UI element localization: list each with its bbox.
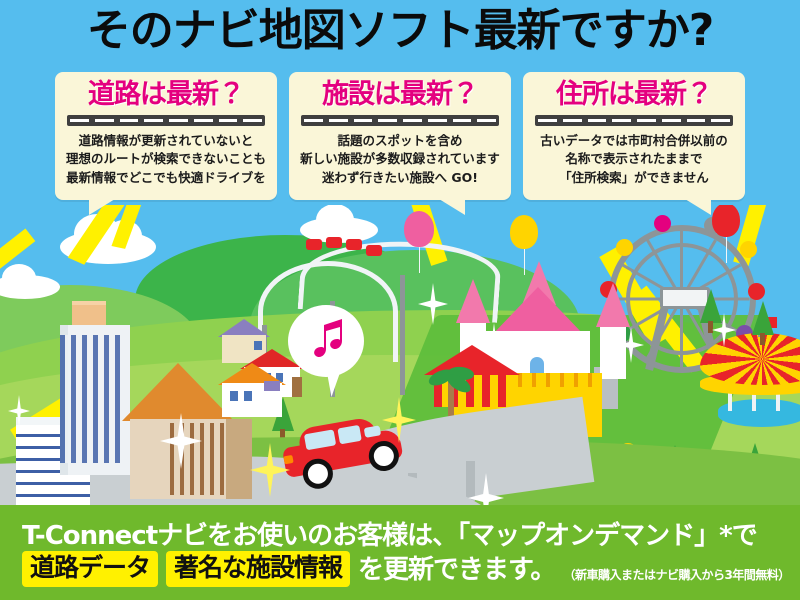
card-body-line: 道路情報が更新されていないと bbox=[63, 132, 269, 151]
car-taillight bbox=[283, 455, 293, 464]
feature-card-address: 住所は最新？ 古いデータでは市町村合併以前の 名称で表示されたままで 「住所検索… bbox=[523, 72, 745, 200]
roller-coaster-train bbox=[346, 239, 362, 250]
road-divider-icon bbox=[301, 115, 499, 126]
card-body-line: 理想のルートが検索できないことも bbox=[63, 150, 269, 169]
castle-spire bbox=[456, 279, 490, 323]
castle-spire bbox=[596, 283, 630, 327]
castle-tower bbox=[600, 319, 626, 379]
banner-footnote: （新車購入またはナビ購入から3年間無料） bbox=[563, 566, 789, 587]
ferris-cabin bbox=[616, 239, 633, 256]
card-body: 古いデータでは市町村合併以前の 名称で表示されたままで 「住所検索」ができません bbox=[531, 132, 737, 188]
carousel-roof bbox=[700, 333, 800, 385]
advertisement-canvas: そのナビ地図ソフト最新ですか? 道路は最新？ 道路情報が更新されていないと 理想… bbox=[0, 0, 800, 600]
office-tower-windows bbox=[60, 335, 122, 463]
card-body-line: 古いデータでは市町村合併以前の bbox=[531, 132, 737, 151]
highlight-chip-facility-info: 著名な施設情報 bbox=[166, 551, 350, 587]
feature-card-facilities: 施設は最新？ 話題のスポットを含め 新しい施設が多数収録されています 迷わず行き… bbox=[289, 72, 511, 200]
roller-coaster-train bbox=[366, 245, 382, 256]
house-dormer bbox=[264, 381, 280, 391]
card-body-line: 最新情報でどこでも快適ドライブを bbox=[63, 169, 269, 188]
bottom-banner: T-Connectナビをお使いのお客様は、「マップオンデマンド」*で 道路データ… bbox=[0, 505, 800, 600]
illustration-scene bbox=[0, 205, 800, 525]
ferris-cabin bbox=[748, 283, 765, 300]
card-body: 話題のスポットを含め 新しい施設が多数収録されています 迷わず行きたい施設へ G… bbox=[297, 132, 503, 188]
card-body-line: 新しい施設が多数収録されています bbox=[297, 150, 503, 169]
card-body-line: 話題のスポットを含め bbox=[297, 132, 503, 151]
house-window bbox=[244, 391, 252, 401]
roller-coaster-train bbox=[306, 239, 322, 250]
road-divider-icon bbox=[535, 115, 733, 126]
castle-main-roof bbox=[492, 287, 584, 335]
music-note-icon bbox=[312, 319, 346, 363]
card-body: 道路情報が更新されていないと 理想のルートが検索できないことも 最新情報でどこで… bbox=[63, 132, 269, 188]
roller-coaster-train bbox=[326, 237, 342, 248]
card-title: 施設は最新？ bbox=[297, 80, 503, 110]
card-title: 住所は最新？ bbox=[531, 80, 737, 110]
house-door bbox=[292, 377, 302, 397]
banner-line-1: T-Connectナビをお使いのお客様は、「マップオンデマンド」*で bbox=[22, 515, 757, 552]
ferris-cabin bbox=[740, 241, 757, 258]
page-title: そのナビ地図ソフト最新ですか? bbox=[0, 8, 800, 54]
banner-tail-text: を更新できます。 bbox=[358, 554, 555, 587]
card-body-line: 名称で表示されたままで bbox=[531, 150, 737, 169]
banner-line-2: 道路データ 著名な施設情報 を更新できます。 （新車購入またはナビ購入から3年間… bbox=[22, 551, 790, 587]
balloon-icon bbox=[712, 205, 740, 237]
card-body-line: 「住所検索」ができません bbox=[531, 169, 737, 188]
balloon-icon bbox=[510, 215, 538, 249]
house-window bbox=[230, 391, 238, 401]
highlight-chip-road-data: 道路データ bbox=[22, 551, 158, 587]
feature-card-list: 道路は最新？ 道路情報が更新されていないと 理想のルートが検索できないことも 最… bbox=[0, 72, 800, 200]
card-body-line: 迷わず行きたい施設へ GO! bbox=[297, 169, 503, 188]
ferris-cabin bbox=[654, 215, 671, 232]
feature-card-roads: 道路は最新？ 道路情報が更新されていないと 理想のルートが検索できないことも 最… bbox=[55, 72, 277, 200]
carousel-icon bbox=[700, 333, 800, 429]
balloon-icon bbox=[404, 211, 434, 247]
roller-coaster-post bbox=[400, 275, 405, 395]
road-pillar bbox=[466, 461, 475, 501]
card-title: 道路は最新？ bbox=[63, 80, 269, 110]
road-divider-icon bbox=[67, 115, 265, 126]
